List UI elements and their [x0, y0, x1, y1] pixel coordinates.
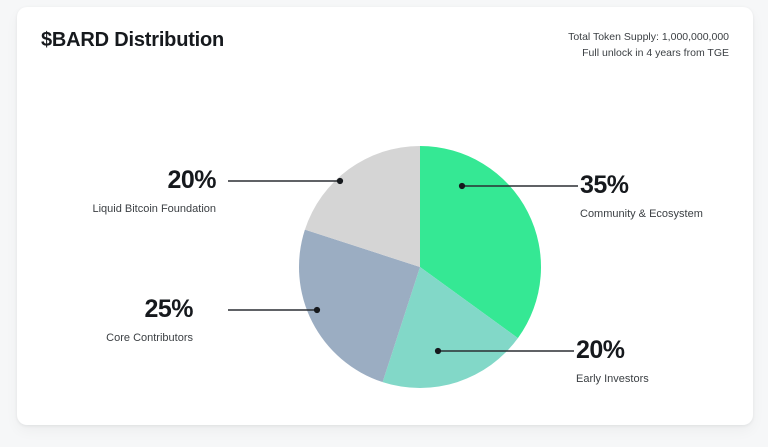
callout-foundation: 20% Liquid Bitcoin Foundation	[92, 167, 216, 217]
callout-community-label: Community & Ecosystem	[580, 207, 703, 222]
callout-early-investors-percent: 20%	[576, 337, 649, 363]
unlock-note-text: Full unlock in 4 years from TGE	[568, 45, 729, 61]
pie-chart	[282, 129, 558, 405]
pie-chart-svg	[282, 129, 558, 405]
callout-foundation-percent: 20%	[92, 167, 216, 193]
token-supply-block: Total Token Supply: 1,000,000,000 Full u…	[568, 29, 729, 61]
callout-core-contributors-percent: 25%	[106, 296, 193, 322]
page-title: $BARD Distribution	[41, 29, 224, 52]
callout-community: 35% Community & Ecosystem	[580, 172, 703, 222]
total-supply-text: Total Token Supply: 1,000,000,000	[568, 29, 729, 45]
callout-foundation-label: Liquid Bitcoin Foundation	[92, 202, 216, 217]
callout-community-percent: 35%	[580, 172, 703, 198]
callout-core-contributors: 25% Core Contributors	[106, 296, 193, 346]
callout-core-contributors-label: Core Contributors	[106, 331, 193, 346]
callout-early-investors-label: Early Investors	[576, 372, 649, 387]
callout-early-investors: 20% Early Investors	[576, 337, 649, 387]
page-root: $BARD Distribution Total Token Supply: 1…	[0, 0, 768, 447]
chart-card: $BARD Distribution Total Token Supply: 1…	[17, 7, 753, 425]
